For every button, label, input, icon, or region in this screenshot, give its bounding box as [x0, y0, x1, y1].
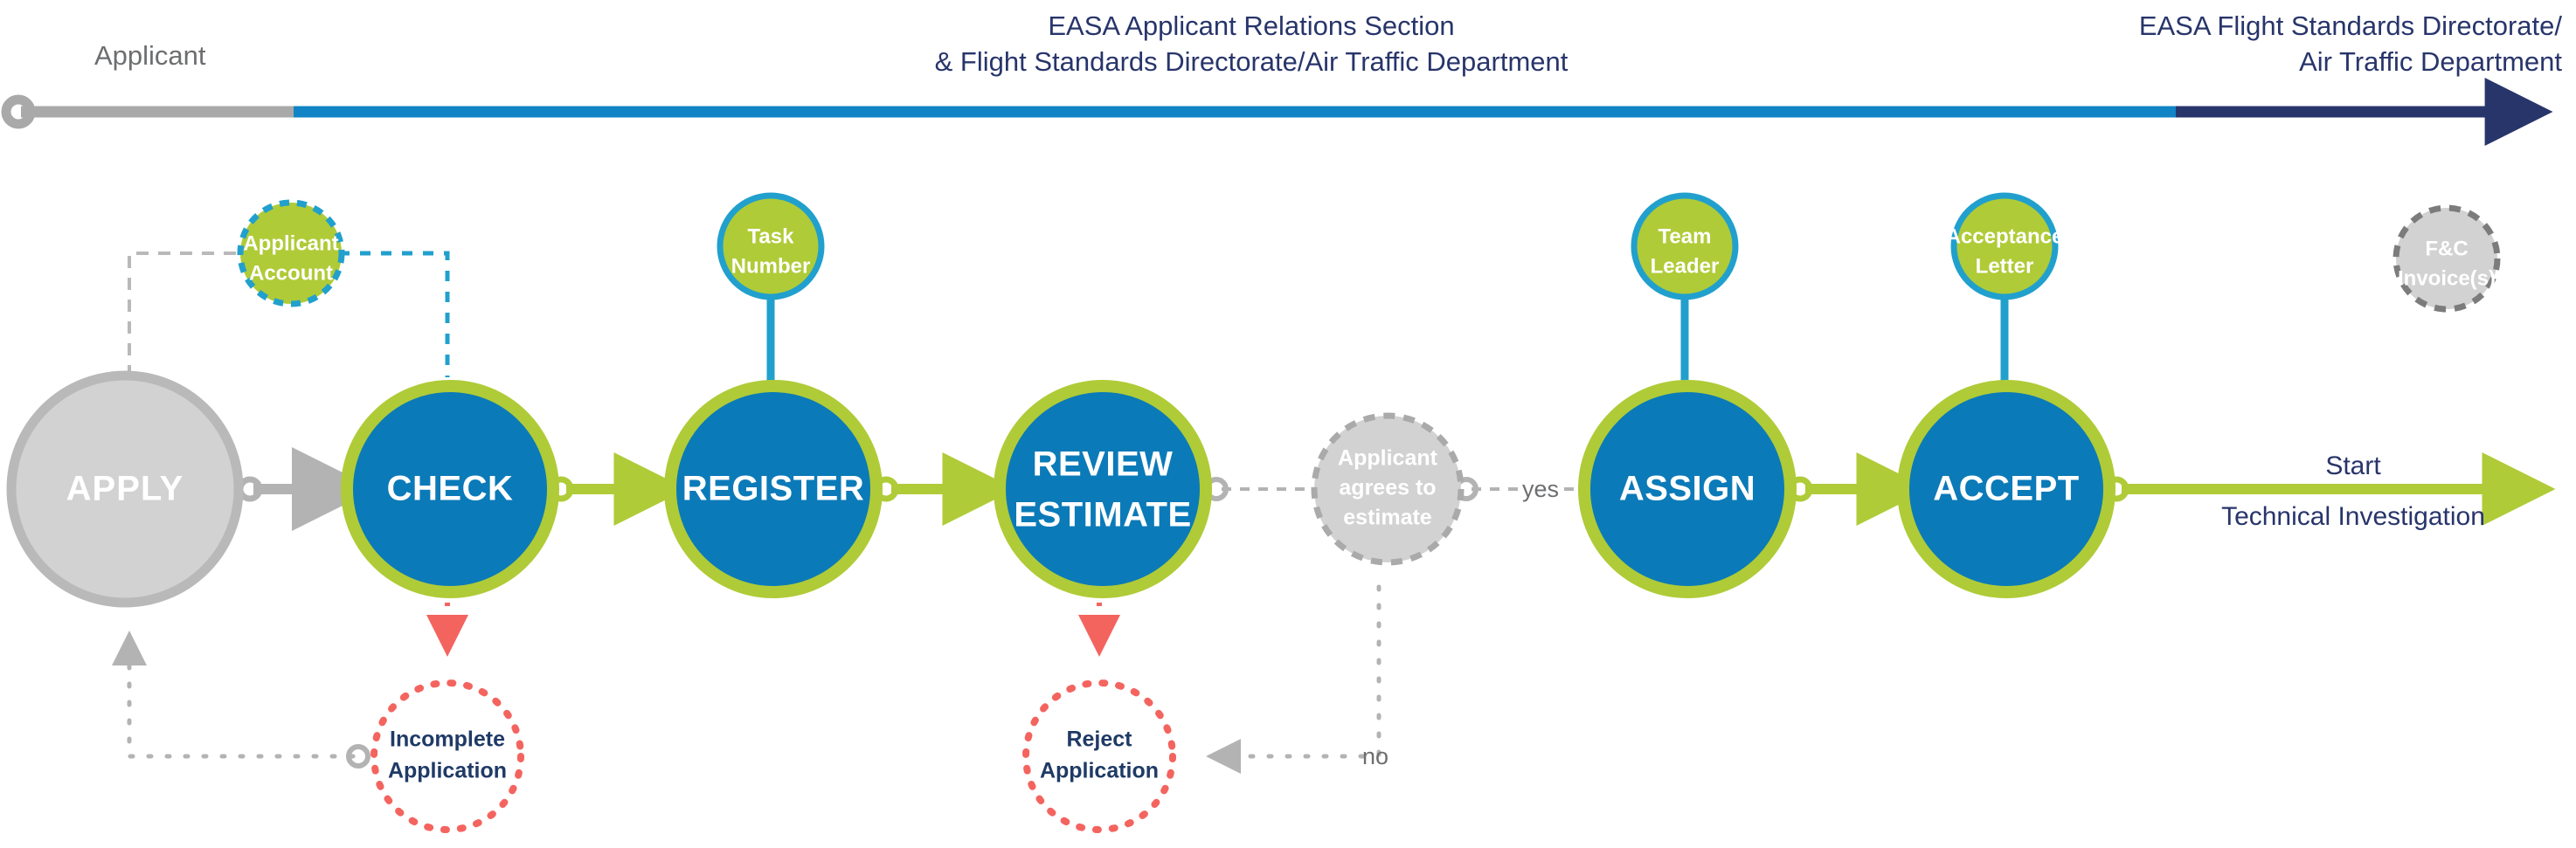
exception-reject-line1: Reject — [1066, 727, 1132, 752]
outcome-label-line1: Start — [2325, 452, 2381, 480]
process-node-accept-label: ACCEPT — [1933, 470, 2079, 508]
process-node-check-label: CHECK — [387, 470, 514, 508]
exception-reject-line2: Application — [1040, 759, 1159, 783]
process-node-assign[interactable]: ASSIGN — [1584, 386, 1790, 592]
artifact-team-leader[interactable]: Team Leader — [1634, 196, 1735, 297]
process-node-review-estimate-line2: ESTIMATE — [1014, 496, 1191, 534]
connector-check-to-register — [551, 479, 648, 499]
exception-incomplete-line1: Incomplete — [390, 727, 505, 752]
artifact-applicant-account-line2: Account — [249, 261, 333, 285]
decision-node-line1: Applicant — [1338, 446, 1438, 471]
connector-accept-to-outcome — [2107, 479, 2517, 499]
process-node-register[interactable]: REGISTER — [670, 386, 876, 592]
process-node-assign-label: ASSIGN — [1619, 470, 1755, 508]
artifact-applicant-account-line1: Applicant — [243, 231, 338, 255]
artifact-acceptance-letter-line1: Acceptance — [1946, 224, 2064, 248]
artifact-applicant-account[interactable]: Applicant Account — [240, 203, 342, 304]
lane-label-applicant: Applicant — [94, 40, 206, 71]
artifact-acceptance-letter-line2: Letter — [1976, 254, 2034, 278]
process-node-register-label: REGISTER — [682, 470, 864, 508]
decision-node-applicant-agrees[interactable]: Applicant agrees to estimate — [1314, 416, 1461, 562]
process-node-review-estimate[interactable]: REVIEW ESTIMATE — [1000, 386, 1206, 592]
artifact-fc-invoices-line2: Invoice(s) — [2398, 266, 2496, 290]
label-yes: yes — [1522, 476, 1559, 502]
process-node-apply[interactable]: APPLY — [11, 376, 239, 603]
swimlane-bar — [6, 100, 2517, 124]
connector-apply-to-check — [240, 479, 334, 499]
lane-label-easa-line1: EASA Applicant Relations Section — [1048, 10, 1454, 41]
process-node-accept[interactable]: ACCEPT — [1903, 386, 2109, 592]
connector-decision-no-to-reject — [1223, 587, 1379, 756]
process-node-apply-label: APPLY — [66, 470, 184, 508]
lane-label-fsd-line2: Air Traffic Department — [2299, 46, 2562, 77]
artifact-fc-invoices-line1: F&C — [2425, 237, 2468, 260]
artifact-fc-invoices[interactable]: F&C Invoice(s) — [2396, 208, 2497, 309]
connector-incomplete-to-apply — [129, 648, 368, 766]
artifact-task-number-line2: Number — [731, 254, 811, 278]
decision-node-line3: estimate — [1343, 506, 1432, 530]
decision-node-line2: agrees to — [1339, 476, 1436, 500]
artifact-acceptance-letter[interactable]: Acceptance Letter — [1946, 196, 2064, 297]
artifact-team-leader-line2: Leader — [1651, 254, 1720, 278]
outcome-label-line2: Technical Investigation — [2221, 502, 2485, 531]
lane-label-fsd-line1: EASA Flight Standards Directorate/ — [2139, 10, 2563, 41]
artifact-task-number-line1: Task — [748, 224, 795, 248]
exception-node-incomplete-application[interactable]: Incomplete Application — [374, 683, 521, 830]
connector-assign-to-accept — [1790, 479, 1891, 499]
workflow-diagram: Applicant EASA Applicant Relations Secti… — [0, 0, 2576, 848]
process-node-check[interactable]: CHECK — [347, 386, 553, 592]
exception-incomplete-line2: Application — [388, 759, 507, 783]
label-no: no — [1362, 743, 1388, 769]
artifact-task-number[interactable]: Task Number — [720, 196, 821, 297]
lane-label-easa-line2: & Flight Standards Directorate/Air Traff… — [935, 46, 1568, 77]
lane-start-dot — [6, 100, 31, 124]
process-node-review-estimate-line1: REVIEW — [1033, 445, 1174, 484]
artifact-team-leader-line1: Team — [1658, 224, 1712, 248]
exception-node-reject-application[interactable]: Reject Application — [1026, 683, 1173, 830]
connector-account-to-check — [339, 253, 447, 377]
connector-register-to-review — [876, 479, 977, 499]
